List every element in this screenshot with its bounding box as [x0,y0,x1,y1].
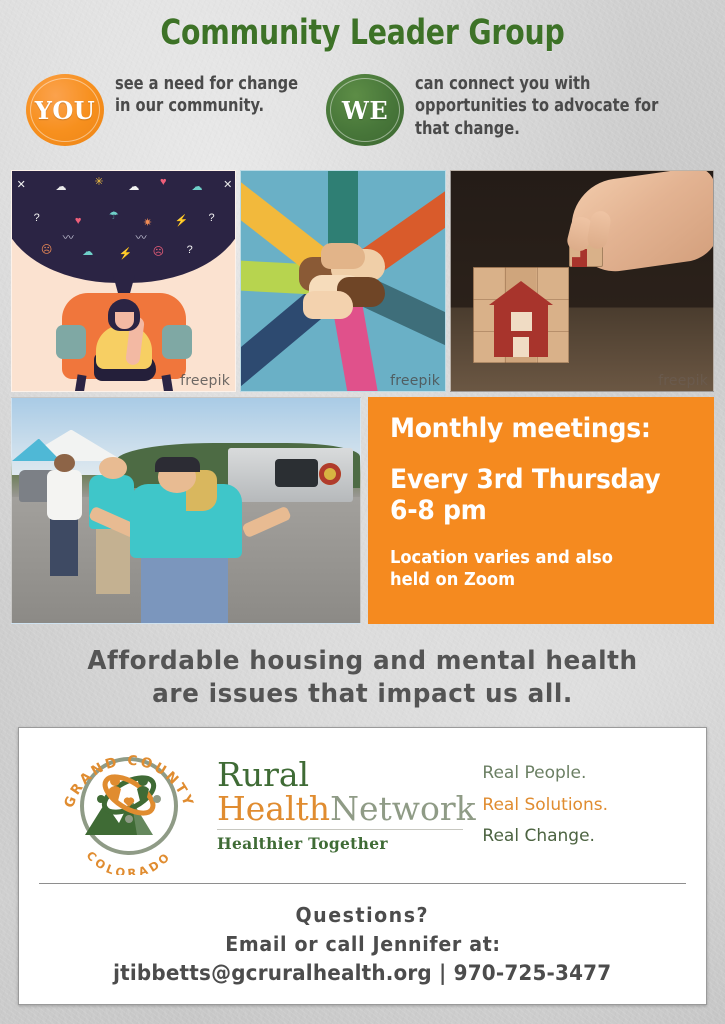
brand-network-word: Network [330,789,476,828]
real-people-line: Real People. [482,758,608,789]
real-solutions-line: Real Solutions. [482,790,608,821]
house-door-shape [513,337,529,357]
freepik-watermark: freepik [658,373,708,389]
freepik-watermark: freepik [180,373,230,389]
photo-person3-shirt [47,470,82,520]
house-roof-shape [489,281,553,305]
contact-details[interactable]: jtibbetts@gcruralhealth.org | 970-725-34… [113,961,611,985]
stacked-hands-icon [297,241,389,321]
photo-person2-pants [96,526,131,594]
cushion-left [56,325,86,359]
statements-row: YOU see a need for change in our communi… [26,63,711,146]
footer-card: GRAND COUNTY COLORADO Rural HealthNetwor… [18,727,707,1005]
photo-person3-head [54,454,75,472]
statement-we-text: can connect you with opportunities to ad… [415,73,690,140]
you-badge-label: YOU [35,96,95,125]
brand-line-health-network: HealthNetwork [217,792,476,827]
statement-you-text: see a need for change in our community. [115,73,311,118]
photo-strip: ✕ ? ☁ ♥ ✳ ☂ ☁ ✷ ♥ ⚡ ☁ ? ✕ ☹ ☁ ⚡ ☹ ? 〰 〰 [11,170,714,392]
brand-line-rural: Rural [217,758,476,791]
meetings-row: Monthly meetings: Every 3rd Thursday 6-8… [11,397,714,629]
contact-questions-label: Questions? [296,903,430,927]
cushion-right [162,325,192,359]
branding-row: GRAND COUNTY COLORADO Rural HealthNetwor… [19,728,706,883]
we-badge-label: WE [342,96,388,125]
grand-county-rural-health-logo: GRAND COUNTY COLORADO [49,737,209,875]
tagline-line2: are issues that impact us all. [18,678,707,711]
colorado-logo-icon [319,463,341,485]
statement-we: WE can connect you with opportunities to… [326,63,711,146]
meetings-location: Location varies and also held on Zoom [390,548,674,592]
brand-tagline: Healthier Together [217,834,476,853]
flyer-page: Community Leader Group YOU see a need fo… [0,0,725,1024]
photo-person2-head [99,457,127,480]
brand-underline [217,829,463,830]
tagline: Affordable housing and mental health are… [18,645,707,712]
meetings-schedule-line1: Every 3rd Thursday [390,464,674,495]
photo-person3-pants [50,517,78,576]
contact-block: Questions? Email or call Jennifer at: jt… [19,884,706,1004]
meetings-location-line2: held on Zoom [390,570,674,592]
we-circle-badge: WE [326,74,404,146]
tagline-line1: Affordable housing and mental health [18,645,707,678]
meetings-schedule-line2: 6-8 pm [390,495,674,526]
statement-you: YOU see a need for change in our communi… [26,63,326,146]
reals-list: Real People. Real Solutions. Real Change… [482,758,608,852]
brand-wordmark: Rural HealthNetwork Healthier Together [217,758,476,854]
page-title: Community Leader Group [36,13,689,53]
real-change-line: Real Change. [482,821,608,852]
you-circle-badge: YOU [26,74,104,146]
photo-person1-cap [155,457,200,473]
hands-together-illustration: freepik [240,170,446,392]
hand-6 [303,291,353,319]
mental-health-illustration: ✕ ? ☁ ♥ ✳ ☂ ☁ ✷ ♥ ⚡ ☁ ? ✕ ☹ ☁ ⚡ ☹ ? 〰 〰 [11,170,236,392]
thought-cloud-icon: ✕ ? ☁ ♥ ✳ ☂ ☁ ✷ ♥ ⚡ ☁ ? ✕ ☹ ☁ ⚡ ☹ ? 〰 〰 [11,170,236,283]
brand-health-word: Health [217,789,330,828]
person-head [108,299,140,331]
meetings-schedule: Every 3rd Thursday 6-8 pm [390,464,674,527]
wooden-block-house-photo: freepik [450,170,714,392]
community-volunteers-photo [11,397,361,624]
meetings-location-line1: Location varies and also [390,548,674,570]
meetings-heading: Monthly meetings: [390,414,674,444]
contact-instruction: Email or call Jennifer at: [225,932,500,956]
photo-trailer [228,448,353,502]
meetings-panel: Monthly meetings: Every 3rd Thursday 6-8… [368,397,714,624]
photo-person1-jeans [141,553,228,623]
house-window-shape [510,311,532,331]
logo-mark-icon: GRAND COUNTY COLORADO [49,737,209,875]
hand-5 [321,243,365,269]
freepik-watermark: freepik [390,373,440,389]
wooden-blocks-stack [473,267,569,363]
